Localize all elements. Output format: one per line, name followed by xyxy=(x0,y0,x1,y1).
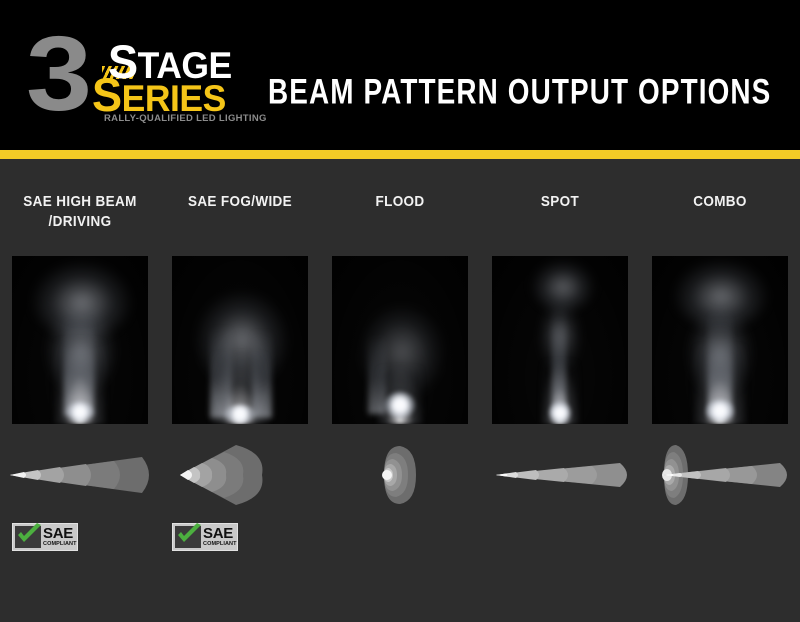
sae-compliant-badge: SAE COMPLIANT xyxy=(172,523,238,551)
flood-night-photo xyxy=(332,256,468,424)
beam-pattern-columns: SAE HIGH BEAM /DRIVING xyxy=(0,159,800,622)
beam-lobes xyxy=(496,463,627,487)
green-check-icon xyxy=(15,523,45,547)
badge-subtitle: COMPLIANT xyxy=(43,542,77,548)
column-label-flood: FLOOD xyxy=(333,192,468,212)
beam-pattern-infographic: 3 STAGE SERIES RALLY-QUALIFIED LED LIGHT… xyxy=(0,0,800,622)
column-label-line-1: COMBO xyxy=(653,192,788,212)
page-title: BEAM PATTERN OUTPUT OPTIONS xyxy=(268,74,771,112)
column-combo: COMBO xyxy=(640,159,800,622)
sae-fog-wide-night-photo xyxy=(172,256,308,424)
spot-night-photo xyxy=(492,256,628,424)
column-label-sae-fog-wide: SAE FOG/WIDE xyxy=(173,192,308,212)
flood-beam-diagram xyxy=(322,443,478,507)
spot-beam-diagram xyxy=(482,443,638,507)
column-label-line-1: SPOT xyxy=(493,192,628,212)
column-label-sae-high-beam-driving: SAE HIGH BEAM /DRIVING xyxy=(13,192,148,232)
column-label-line-2: /DRIVING xyxy=(13,212,148,232)
column-sae-high-beam-driving: SAE HIGH BEAM /DRIVING xyxy=(0,159,160,622)
sae-high-beam-driving-night-photo xyxy=(12,256,148,424)
sae-fog-wide-beam-diagram xyxy=(162,443,318,507)
sae-compliant-badge: SAE COMPLIANT xyxy=(12,523,78,551)
badge-title: SAE xyxy=(203,526,237,541)
column-label-line-1: SAE HIGH BEAM xyxy=(13,192,148,212)
photo-vignette xyxy=(332,256,468,424)
photo-vignette xyxy=(652,256,788,424)
badge-title: SAE xyxy=(43,526,77,541)
badge-subtitle: COMPLIANT xyxy=(203,542,237,548)
column-sae-fog-wide: SAE FOG/WIDE xyxy=(160,159,320,622)
beam-lobes xyxy=(382,446,416,504)
photo-vignette xyxy=(492,256,628,424)
column-flood: FLOOD xyxy=(320,159,480,622)
combo-beam-diagram xyxy=(642,443,798,507)
badge-text-block: SAE COMPLIANT xyxy=(203,526,237,548)
column-label-spot: SPOT xyxy=(493,192,628,212)
yellow-accent-bar xyxy=(0,150,800,159)
logo-numeral-3: 3 xyxy=(26,24,85,124)
photo-vignette xyxy=(172,256,308,424)
green-check-icon xyxy=(175,523,205,547)
beam-lobes xyxy=(10,457,149,493)
logo-word-series: SERIES xyxy=(92,76,226,117)
combo-night-photo xyxy=(652,256,788,424)
stage-series-logo: 3 STAGE SERIES RALLY-QUALIFIED LED LIGHT… xyxy=(26,28,236,124)
photo-vignette xyxy=(12,256,148,424)
logo-tagline: RALLY-QUALIFIED LED LIGHTING xyxy=(104,114,267,124)
column-label-line-1: SAE FOG/WIDE xyxy=(173,192,308,212)
beam-lobes xyxy=(180,445,262,505)
badge-text-block: SAE COMPLIANT xyxy=(43,526,77,548)
header-bar: 3 STAGE SERIES RALLY-QUALIFIED LED LIGHT… xyxy=(0,0,800,150)
column-label-line-1: FLOOD xyxy=(333,192,468,212)
column-label-combo: COMBO xyxy=(653,192,788,212)
column-spot: SPOT xyxy=(480,159,640,622)
sae-high-beam-driving-beam-diagram xyxy=(2,443,158,507)
